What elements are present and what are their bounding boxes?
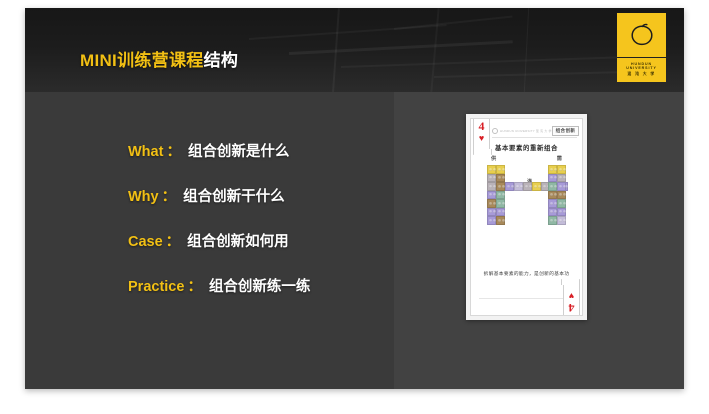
lego-brick [505,182,514,191]
agenda-key: Practice [128,279,184,295]
agenda-key: What [128,144,163,160]
lego-brick [557,191,566,200]
lego-brick [532,182,541,191]
slide-canvas: HUNDUN UNIVERSITY 混 沌 大 学 MINI训练营课程结构 Wh… [25,8,684,389]
card-rank: 4 [564,301,579,315]
lego-brick [496,174,505,183]
lego-brick [548,165,557,174]
lego-brick-row [487,199,505,208]
agenda-key: Why [128,189,159,205]
card-brand-text: HUNDUN UNIVERSITY 混 沌 大 学 [500,129,552,133]
brick-diagram: 供 连 需 [480,155,573,265]
lego-brick [496,165,505,174]
slide-root: HUNDUN UNIVERSITY 混 沌 大 学 MINI训练营课程结构 Wh… [0,0,709,414]
agenda-colon: ： [163,230,184,251]
agenda-value: 组合创新干什么 [183,185,285,206]
lego-brick [496,191,505,200]
heart-suit-icon: ♥ [474,133,489,143]
lego-brick-row [548,191,566,200]
brick-label-left: 供 [491,155,496,162]
logo-cn-line: 混 沌 大 学 [617,72,666,77]
agenda-value: 组合创新如何用 [187,230,289,251]
lego-brick [548,191,557,200]
lego-brick [496,199,505,208]
agenda-colon: ： [159,185,180,206]
lego-brick [496,208,505,217]
agenda-colon: ： [163,140,184,161]
lego-brick [487,174,496,183]
brick-column-right [548,165,566,225]
agenda-item-what: What ： 组合创新是什么 [128,140,310,185]
card-brand: HUNDUN UNIVERSITY 混 沌 大 学 [492,128,552,134]
banner-streak [289,40,513,55]
lego-brick [496,216,505,225]
course-card: 4 ♥ HUNDUN UNIVERSITY 混 沌 大 学 组合创新 基本要素的… [466,114,587,320]
agenda-item-why: Why ： 组合创新干什么 [128,185,310,230]
agenda-value: 组合创新练一练 [209,275,311,296]
lego-brick [548,208,557,217]
lego-brick [548,199,557,208]
card-corner-bottom-right: 4 ♥ [563,284,580,316]
card-tag: 组合创新 [552,126,580,136]
page-title-plain: 结构 [204,51,239,70]
agenda-item-practice: Practice ： 组合创新练一练 [128,275,310,320]
hundun-apple-icon-small [492,128,498,134]
course-card-inner: 4 ♥ HUNDUN UNIVERSITY 混 沌 大 学 组合创新 基本要素的… [470,118,583,316]
card-header: HUNDUN UNIVERSITY 混 沌 大 学 组合创新 [492,125,577,136]
logo-badge: HUNDUN UNIVERSITY 混 沌 大 学 [617,13,666,82]
lego-brick [557,208,566,217]
lego-brick [557,182,566,191]
card-bottom-divider [479,298,574,299]
logo-en-line2: UNIVERSITY [617,66,666,70]
lego-brick-row [548,199,566,208]
lego-brick [487,182,496,191]
lego-brick-row [548,182,566,191]
hundun-apple-icon [617,13,666,57]
lego-brick [514,182,523,191]
brick-label-right: 需 [557,155,562,162]
lego-brick [487,208,496,217]
banner-streak [524,8,529,92]
lego-brick [487,191,496,200]
lego-brick-row [548,208,566,217]
brick-column-left [487,165,505,225]
agenda-colon: ： [184,275,205,296]
lego-brick [548,174,557,183]
lego-brick-row [487,208,505,217]
lego-brick [487,216,496,225]
card-caption: 拆解基本要素的能力，是创新的基本功 [479,271,574,278]
lego-brick [487,165,496,174]
heart-suit-icon: ♥ [564,291,579,301]
banner-streak [430,8,439,92]
lego-brick [548,216,557,225]
card-corner-top-left: 4 ♥ [473,118,490,150]
lego-brick [523,182,532,191]
lego-brick-row [548,174,566,183]
lego-brick [557,216,566,225]
agenda-item-case: Case ： 组合创新如何用 [128,230,310,275]
lego-brick-row [548,216,566,225]
lego-brick-row [487,174,505,183]
lego-brick [548,182,557,191]
page-title-accent: MINI训练营课程 [80,51,204,70]
lego-brick [557,199,566,208]
lego-brick [496,182,505,191]
logo-wordmark: HUNDUN UNIVERSITY 混 沌 大 学 [617,58,666,82]
lego-brick-row [487,165,505,174]
agenda-list: What ： 组合创新是什么 Why ： 组合创新干什么 Case ： 组合创新… [128,140,310,320]
agenda-value: 组合创新是什么 [188,140,290,161]
banner-streak [341,56,618,68]
page-title: MINI训练营课程结构 [80,46,238,71]
lego-brick-row [548,165,566,174]
card-header-divider [492,137,577,138]
banner-streak [434,71,632,78]
lego-brick [487,199,496,208]
lego-brick-row [487,216,505,225]
banner-streak [394,16,512,30]
lego-brick-row [487,191,505,200]
card-rank: 4 [474,119,489,133]
lego-brick [557,174,566,183]
lego-brick [557,165,566,174]
agenda-key: Case [128,234,163,250]
